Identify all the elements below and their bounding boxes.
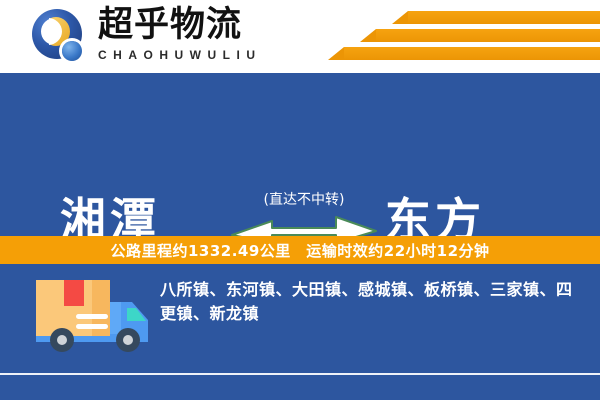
logistics-route-poster: 超乎物流 CHAOHUWULIU 湘潭 (直达不中转) 【往返运输】 东方 公路… xyxy=(0,0,600,400)
header-stripe-1 xyxy=(408,11,600,24)
brand-name-en: CHAOHUWULIU xyxy=(98,48,308,62)
bottom-divider xyxy=(0,373,600,375)
route-section: 湘潭 (直达不中转) 【往返运输】 东方 xyxy=(0,73,600,236)
towns-section: 八所镇、东河镇、大田镇、感城镇、板桥镇、三家镇、四更镇、新龙镇 xyxy=(0,264,600,400)
served-towns-list: 八所镇、东河镇、大田镇、感城镇、板桥镇、三家镇、四更镇、新龙镇 xyxy=(160,278,584,326)
direct-service-label: (直达不中转) xyxy=(228,191,380,209)
brand-wordmark: 超乎物流 CHAOHUWULIU xyxy=(98,5,308,62)
brand-name-cn: 超乎物流 xyxy=(98,5,308,45)
header-stripes-decoration xyxy=(330,0,600,73)
brand-logo-icon xyxy=(32,9,88,65)
distance-duration-text: 公路里程约1332.49公里 运输时效约22小时12分钟 xyxy=(110,240,489,261)
poster-header: 超乎物流 CHAOHUWULIU xyxy=(0,0,600,73)
distance-duration-band: 公路里程约1332.49公里 运输时效约22小时12分钟 xyxy=(0,236,600,264)
delivery-truck-icon xyxy=(24,276,156,354)
logo-accent-dot-icon xyxy=(62,41,82,61)
header-stripe-3 xyxy=(344,47,600,60)
header-stripe-2 xyxy=(376,29,600,42)
